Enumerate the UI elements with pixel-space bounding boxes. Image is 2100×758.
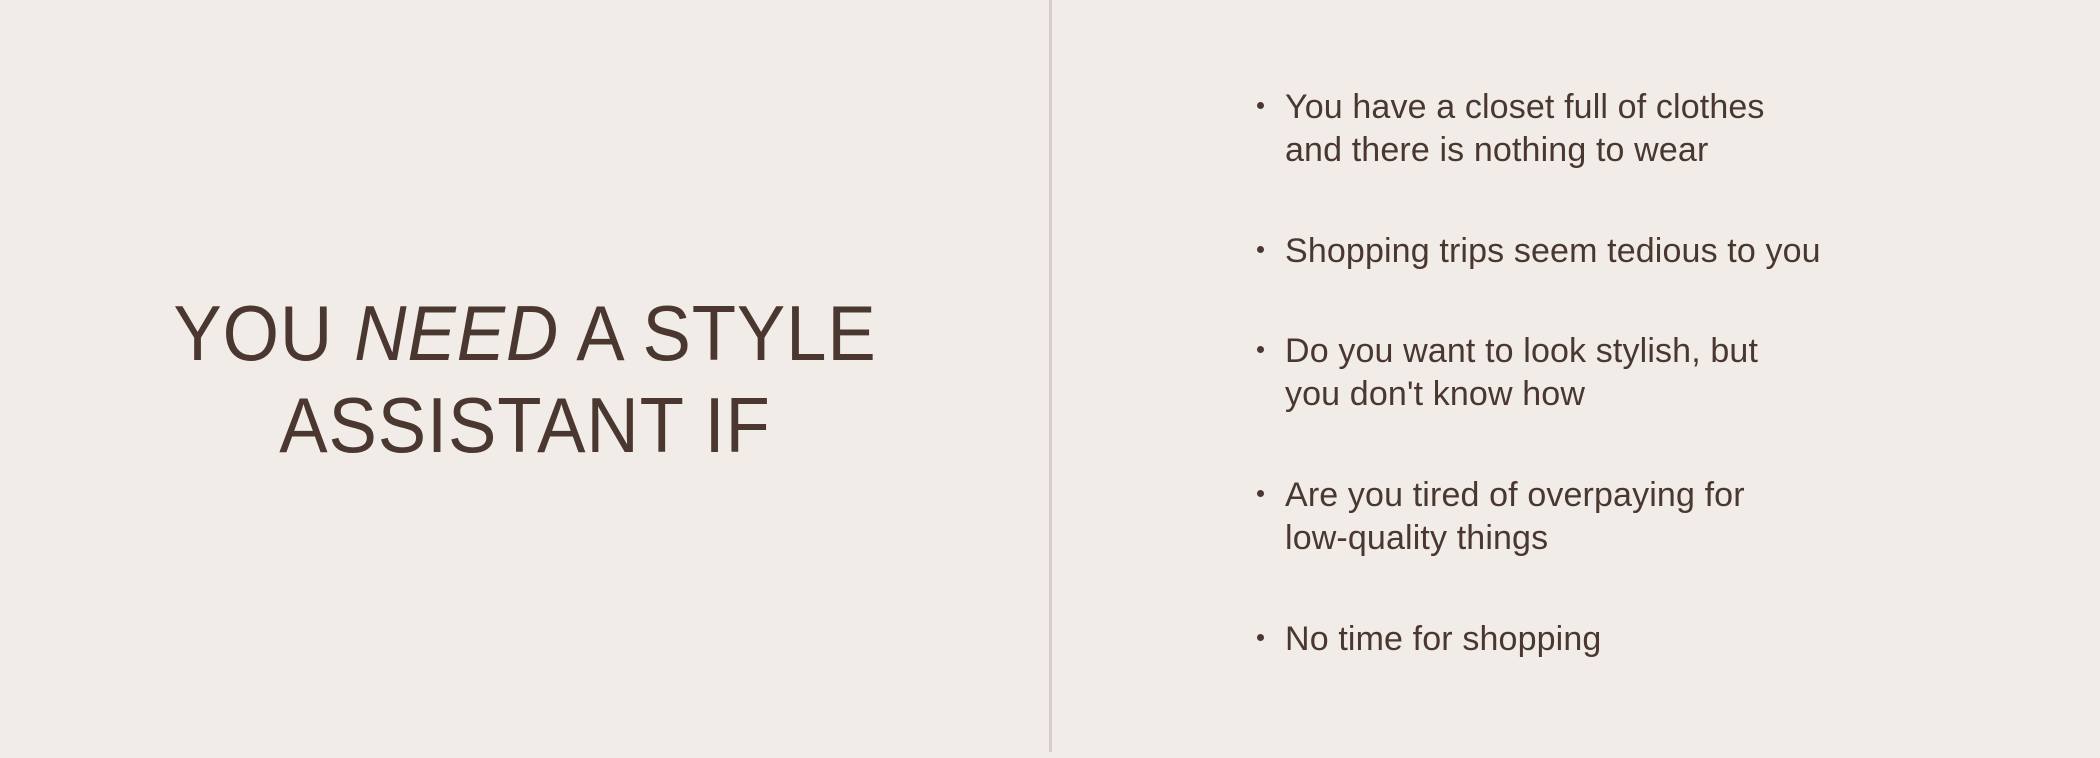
list-item-label: You have a closet full of clothes and th… — [1285, 86, 2057, 172]
bullets-panel: You have a closet full of clothes and th… — [1052, 0, 2100, 758]
headline-emphasis: NEED — [354, 289, 559, 377]
list-item-label: Do you want to look stylish, but you don… — [1285, 330, 2057, 416]
page-title: YOU NEED A STYLE ASSISTANT IF — [115, 287, 933, 471]
list-item-label: No time for shopping — [1285, 618, 2057, 661]
bullet-list: You have a closet full of clothes and th… — [1257, 86, 2057, 661]
list-item: No time for shopping — [1257, 618, 2057, 661]
bullet-dot-icon — [1257, 634, 1264, 641]
list-item: Shopping trips seem tedious to you — [1257, 230, 2057, 273]
bullet-dot-icon — [1257, 246, 1264, 253]
list-item: You have a closet full of clothes and th… — [1257, 86, 2057, 172]
headline-panel: YOU NEED A STYLE ASSISTANT IF — [0, 0, 1049, 758]
list-item-label: Shopping trips seem tedious to you — [1285, 230, 2057, 273]
bullet-dot-icon — [1257, 346, 1264, 353]
list-item: Are you tired of overpaying for low-qual… — [1257, 474, 2057, 560]
headline-part-1: YOU — [173, 289, 354, 377]
bullet-dot-icon — [1257, 490, 1264, 497]
list-item-label: Are you tired of overpaying for low-qual… — [1285, 474, 2057, 560]
bullet-dot-icon — [1257, 102, 1264, 109]
slide-root: YOU NEED A STYLE ASSISTANT IF You have a… — [0, 0, 2100, 758]
list-item: Do you want to look stylish, but you don… — [1257, 330, 2057, 416]
